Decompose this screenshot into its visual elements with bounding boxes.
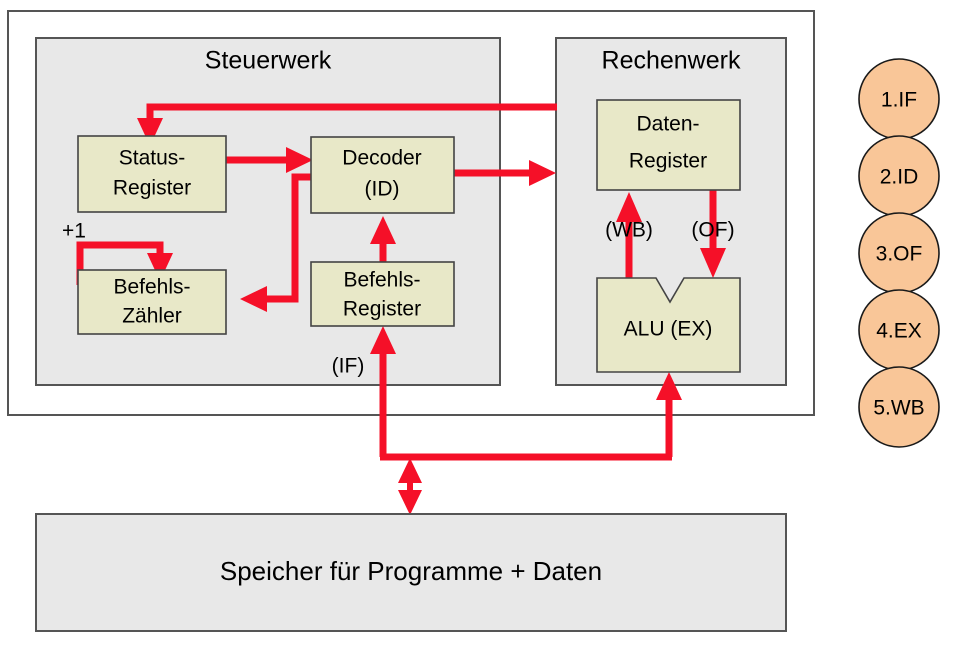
status-register-label-line1: Status- <box>119 147 186 170</box>
stage-label-4: 4.EX <box>876 320 922 343</box>
memory-label: Speicher für Programme + Daten <box>220 556 602 586</box>
data-register-label-line2: Register <box>629 150 707 173</box>
wb-stage-label: (WB) <box>605 219 653 242</box>
connector-bus-memory-bidirectional <box>398 458 422 515</box>
control-unit-title: Steuerwerk <box>205 47 332 75</box>
instruction-register-label-line2: Register <box>343 298 421 321</box>
if-stage-label: (IF) <box>332 355 365 378</box>
program-counter-label-line1: Befehls- <box>113 276 190 299</box>
of-stage-label: (OF) <box>691 219 734 242</box>
stage-label-5: 5.WB <box>873 397 924 420</box>
diagram-canvas: Steuerwerk Rechenwerk +1 <box>0 0 959 649</box>
stage-circle-3[interactable]: 3.OF <box>859 213 939 293</box>
stage-circle-1[interactable]: 1.IF <box>859 59 939 139</box>
program-counter-box: Befehls- Zähler <box>78 270 226 334</box>
stage-circle-5[interactable]: 5.WB <box>859 367 939 447</box>
arithmetic-unit-title: Rechenwerk <box>602 47 741 75</box>
cpu-block-diagram: Steuerwerk Rechenwerk +1 <box>0 0 959 649</box>
arrowhead-down-memory <box>398 490 422 515</box>
program-counter-label-line2: Zähler <box>122 305 182 328</box>
increment-label: +1 <box>62 220 86 243</box>
instruction-register-box: Befehls- Register <box>311 262 454 326</box>
stage-circle-2[interactable]: 2.ID <box>859 136 939 216</box>
data-register-box: Daten- Register <box>597 100 740 190</box>
status-register-label-line2: Register <box>113 177 191 200</box>
stage-label-1: 1.IF <box>881 89 917 112</box>
memory-box: Speicher für Programme + Daten <box>36 514 786 631</box>
status-register-box: Status- Register <box>78 136 226 212</box>
decoder-label-line1: Decoder <box>342 147 421 170</box>
stage-circle-4[interactable]: 4.EX <box>859 290 939 370</box>
alu-label: ALU (EX) <box>624 318 713 341</box>
data-register-label-line1: Daten- <box>636 113 699 136</box>
decoder-box: Decoder (ID) <box>311 137 454 213</box>
instruction-register-label-line1: Befehls- <box>343 269 420 292</box>
stage-label-2: 2.ID <box>880 166 919 189</box>
pipeline-stages: 1.IF 2.ID 3.OF 4.EX 5.WB <box>859 59 939 447</box>
stage-label-3: 3.OF <box>876 243 923 266</box>
decoder-label-line2: (ID) <box>365 178 400 201</box>
arrowhead-up-bus <box>398 458 422 483</box>
